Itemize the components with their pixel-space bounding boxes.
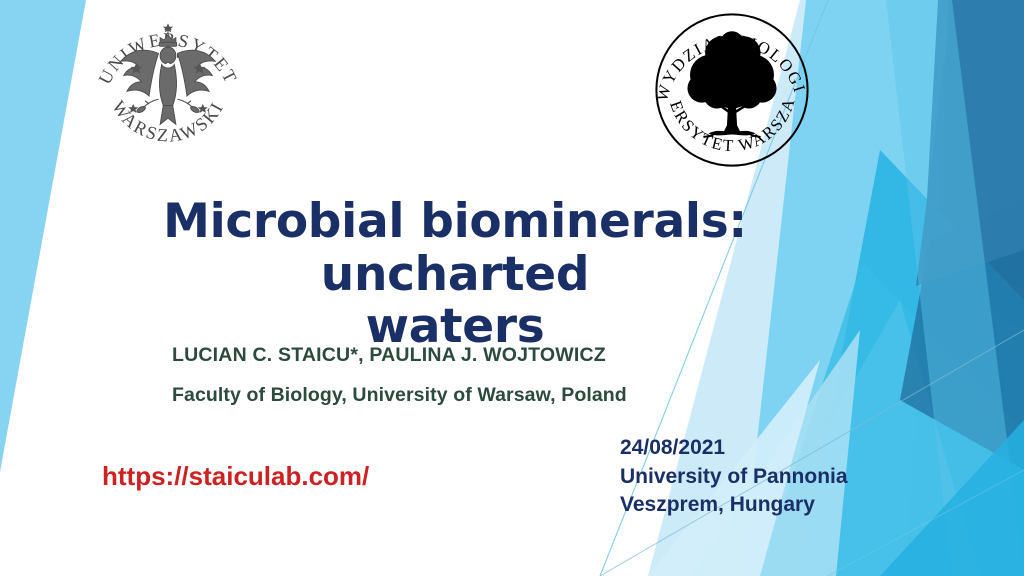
event-date: 24/08/2021 — [620, 434, 848, 463]
affiliation-line: Faculty of Biology, University of Warsaw… — [172, 384, 627, 407]
event-institution: University of Pannonia — [620, 463, 848, 492]
event-location: Veszprem, Hungary — [620, 491, 848, 520]
faculty-of-biology-logo: · WYDZIAŁ BIOLOGII · UNIWERSYTET WARSZAW… — [648, 6, 816, 174]
slide-title: Microbial biominerals: uncharted waters — [60, 196, 850, 354]
authors-line: LUCIAN C. STAICU*, PAULINA J. WOJTOWICZ — [172, 344, 606, 367]
slide-title-line-1: Microbial biominerals: uncharted — [60, 196, 850, 301]
university-of-warsaw-logo: UNIWERSYTET WARSZAWSKI — [88, 6, 248, 164]
presentation-slide: UNIWERSYTET WARSZAWSKI — [0, 0, 1024, 576]
lab-website-link[interactable]: https://staiculab.com/ — [102, 461, 369, 492]
venue-block: 24/08/2021 University of Pannonia Veszpr… — [620, 434, 848, 520]
